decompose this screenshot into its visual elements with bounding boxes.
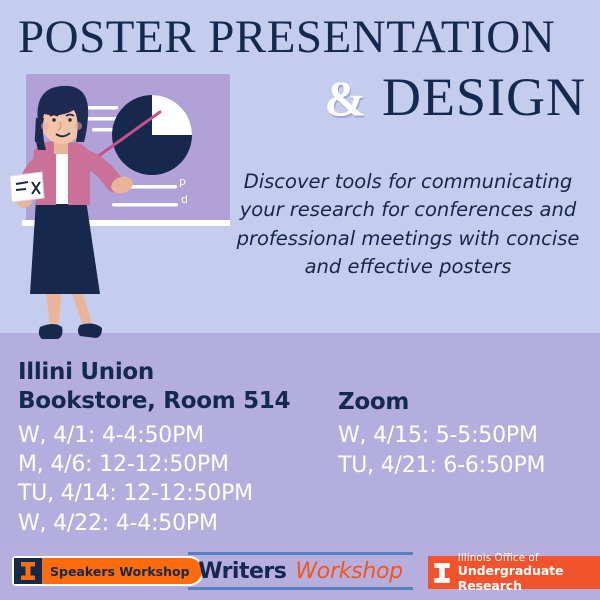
- illinois-block-i-icon: [433, 559, 452, 586]
- session-time: W, 4/1: 4-4:50PM: [18, 421, 290, 450]
- poster-title-line-2: &DESIGN: [324, 70, 586, 124]
- logo-iour-line-2: Undergraduate Research: [458, 564, 594, 594]
- logo-writers-workshop[interactable]: Writers Workshop: [188, 552, 413, 590]
- presenter-illustration: d p: [0, 72, 230, 347]
- logo-speakers-workshop[interactable]: Speakers Workshop: [12, 556, 204, 586]
- illinois-block-i-icon: [14, 558, 42, 584]
- venue-line-1: Zoom: [338, 388, 545, 417]
- logo-speakers-workshop-label: Speakers Workshop: [42, 558, 202, 584]
- session-column-zoom: Zoom W, 4/15: 5-5:50PM TU, 4/21: 6-6:50P…: [338, 388, 545, 480]
- svg-text:p: p: [181, 194, 188, 207]
- poster-title-line-1: POSTER PRESENTATION: [18, 14, 588, 61]
- session-time: TU, 4/21: 6-6:50PM: [338, 451, 545, 480]
- venue-line-2: Bookstore, Room 514: [18, 387, 290, 416]
- venue-name: Zoom: [338, 388, 545, 417]
- venue-line-1: Illini Union: [18, 358, 290, 387]
- poster-description: Discover tools for communicating your re…: [228, 168, 588, 281]
- svg-text:d: d: [179, 176, 186, 189]
- session-time: W, 4/22: 4-4:50PM: [18, 509, 290, 538]
- session-time: W, 4/15: 5-5:50PM: [338, 421, 545, 450]
- logo-undergraduate-research[interactable]: Illinois Office of Undergraduate Researc…: [428, 556, 600, 589]
- ampersand-glyph: &: [324, 70, 366, 126]
- session-time: M, 4/6: 12-12:50PM: [18, 450, 290, 479]
- design-word: DESIGN: [382, 67, 586, 127]
- session-column-in-person: Illini Union Bookstore, Room 514 W, 4/1:…: [18, 358, 290, 538]
- logo-writers-word: Writers: [198, 559, 286, 584]
- session-time-list: W, 4/15: 5-5:50PM TU, 4/21: 6-6:50PM: [338, 421, 545, 480]
- venue-name: Illini Union Bookstore, Room 514: [18, 358, 290, 417]
- logo-undergraduate-research-text: Illinois Office of Undergraduate Researc…: [458, 552, 594, 594]
- session-time-list: W, 4/1: 4-4:50PM M, 4/6: 12-12:50PM TU, …: [18, 421, 290, 538]
- session-time: TU, 4/14: 12-12:50PM: [18, 479, 290, 508]
- poster-canvas: d p: [0, 0, 600, 600]
- logo-workshop-word: Workshop: [295, 559, 402, 584]
